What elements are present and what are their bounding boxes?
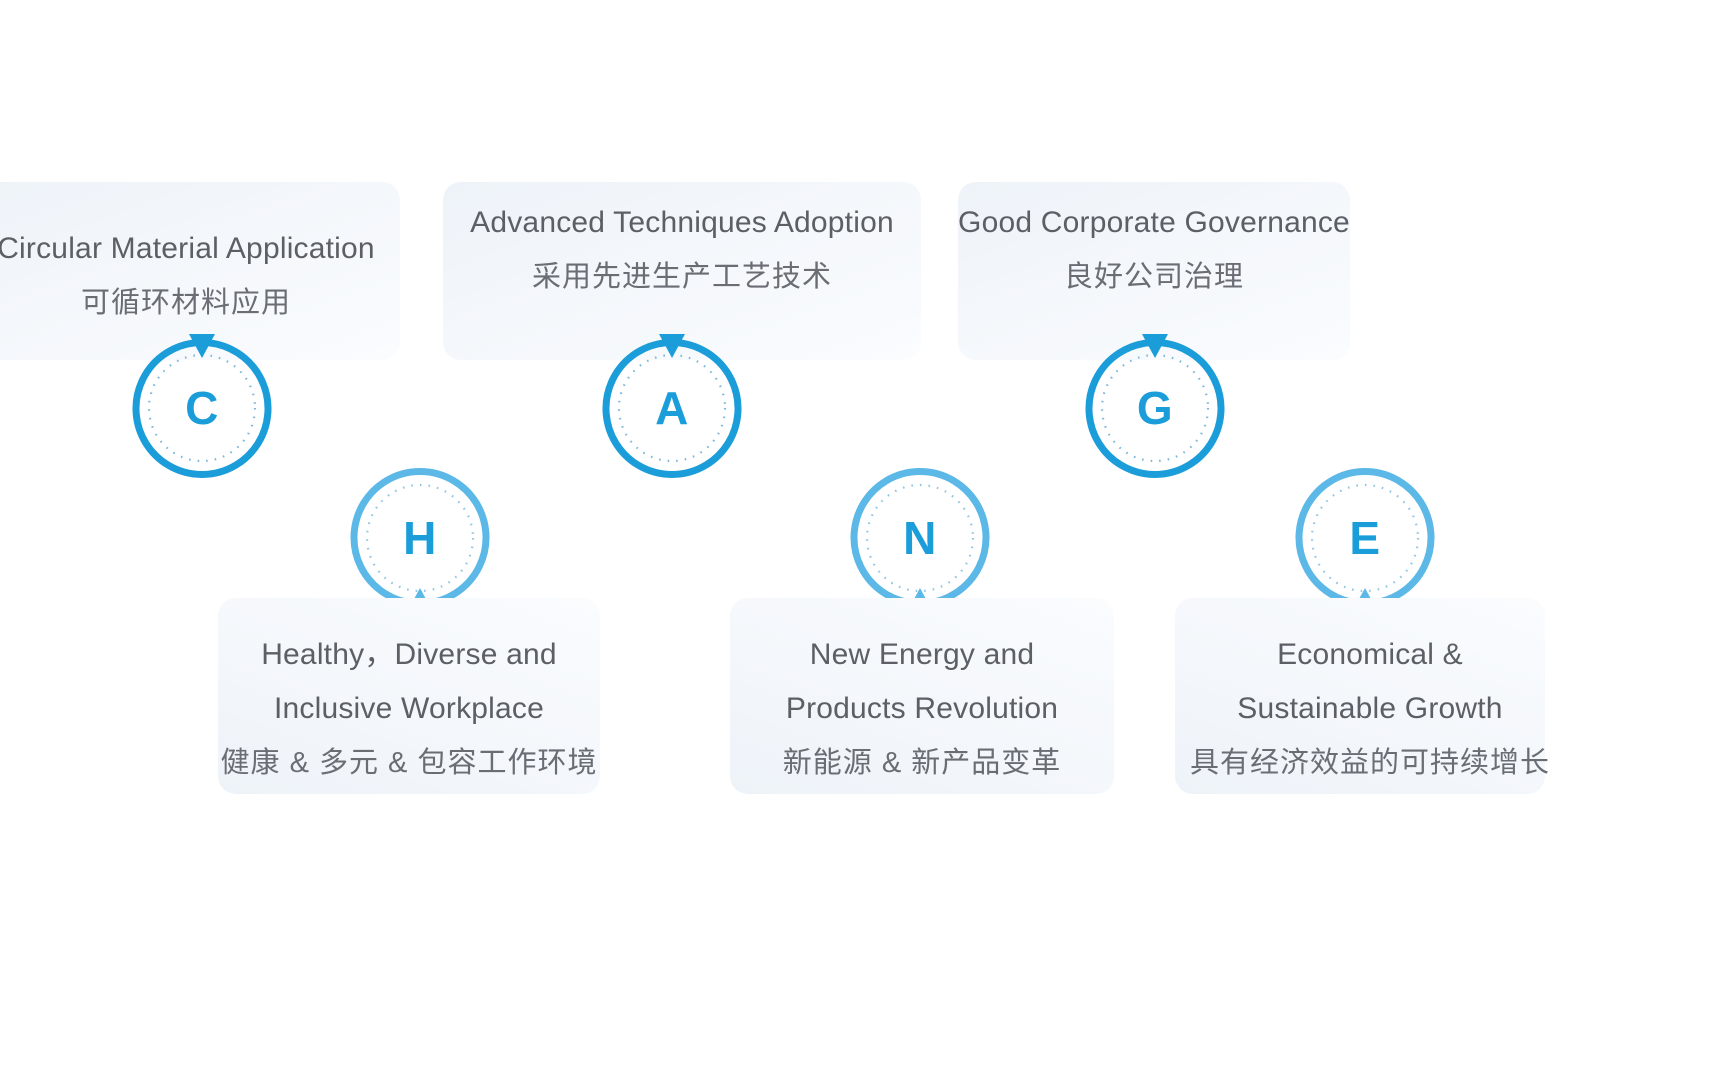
card-line-en: Products Revolution bbox=[730, 682, 1114, 736]
badge-letter-a: A bbox=[592, 328, 752, 488]
badge-letter-g: G bbox=[1075, 328, 1235, 488]
badge-e[interactable]: E bbox=[1285, 458, 1445, 618]
card-line-cn: 具有经济效益的可持续增长 bbox=[1175, 736, 1565, 790]
card-line-en: Healthy，Diverse and bbox=[218, 628, 600, 682]
badge-letter-h: H bbox=[340, 458, 500, 618]
card-line-en: Good Corporate Governance bbox=[908, 196, 1400, 250]
badge-g[interactable]: G bbox=[1075, 328, 1235, 488]
badge-letter-c: C bbox=[122, 328, 282, 488]
card-text-c: Circular Material Application 可循环材料应用 bbox=[0, 222, 400, 330]
badge-letter-n: N bbox=[840, 458, 1000, 618]
badge-c[interactable]: C bbox=[122, 328, 282, 488]
badge-h[interactable]: H bbox=[340, 458, 500, 618]
card-line-en: Economical & bbox=[1175, 628, 1565, 682]
card-text-h: Healthy，Diverse and Inclusive Workplace … bbox=[218, 628, 600, 790]
card-text-a: Advanced Techniques Adoption 采用先进生产工艺技术 bbox=[443, 196, 921, 304]
badge-letter-e: E bbox=[1285, 458, 1445, 618]
card-line-en: New Energy and bbox=[730, 628, 1114, 682]
card-text-g: Good Corporate Governance 良好公司治理 bbox=[908, 196, 1400, 304]
card-line-cn: 新能源 & 新产品变革 bbox=[730, 736, 1114, 790]
card-line-en: Circular Material Application bbox=[0, 222, 400, 276]
card-line-cn: 可循环材料应用 bbox=[0, 276, 400, 330]
card-line-cn: 采用先进生产工艺技术 bbox=[443, 250, 921, 304]
card-line-cn: 健康 & 多元 & 包容工作环境 bbox=[218, 736, 600, 790]
badge-n[interactable]: N bbox=[840, 458, 1000, 618]
badge-a[interactable]: A bbox=[592, 328, 752, 488]
card-text-n: New Energy and Products Revolution 新能源 &… bbox=[730, 628, 1114, 790]
card-line-en: Advanced Techniques Adoption bbox=[443, 196, 921, 250]
card-line-en: Sustainable Growth bbox=[1175, 682, 1565, 736]
change-acrostic-diagram: Circular Material Application 可循环材料应用 C … bbox=[0, 0, 1735, 1070]
card-line-cn: 良好公司治理 bbox=[908, 250, 1400, 304]
card-line-en: Inclusive Workplace bbox=[218, 682, 600, 736]
card-text-e: Economical & Sustainable Growth 具有经济效益的可… bbox=[1175, 628, 1565, 790]
